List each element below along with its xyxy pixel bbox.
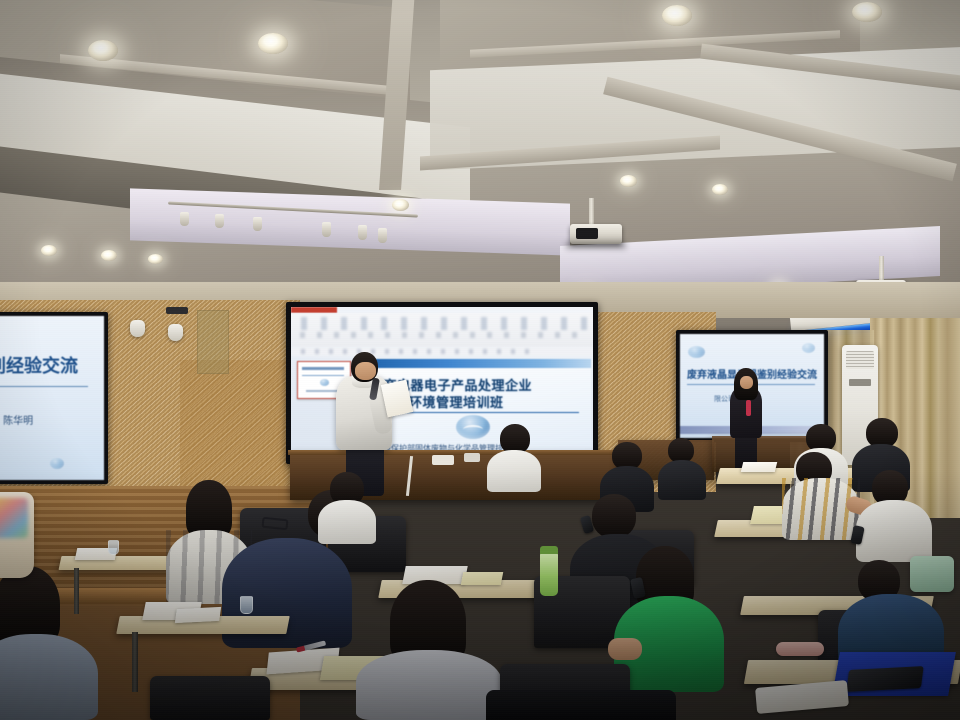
thumbnail-logo-icon	[320, 379, 329, 386]
ppt-toolbar-icons	[297, 349, 537, 354]
audience-head	[592, 494, 636, 538]
slide-emblem-wave	[463, 425, 483, 434]
downlight	[258, 33, 288, 54]
assistant-face	[740, 376, 753, 389]
downlight	[41, 245, 57, 256]
left-projection-screen[interactable]: 鉴别经验交流 限公司 陈华明 年5月	[0, 316, 104, 480]
downlight	[148, 254, 163, 264]
presenter-face	[355, 362, 376, 380]
downlight	[101, 250, 117, 261]
audience-torso	[658, 460, 706, 500]
podium-device	[432, 455, 454, 465]
main-slide-title-line2: 环境管理培训班	[409, 392, 504, 411]
pencil-case	[776, 642, 824, 656]
audience-torso	[0, 634, 98, 720]
podium-device-secondary	[464, 453, 480, 462]
ppt-ribbon-label-row	[295, 332, 589, 338]
slide-header-band	[353, 359, 591, 368]
left-screen-title: 鉴别经验交流	[0, 352, 78, 378]
audience-arm	[608, 638, 642, 660]
thumbnail-sub-line	[306, 390, 340, 392]
track-spotlight	[253, 217, 262, 231]
water-glass	[108, 540, 119, 555]
track-spotlight	[322, 222, 331, 237]
paper	[175, 607, 221, 623]
desk-leg	[132, 632, 138, 692]
rolled-paper	[755, 680, 849, 714]
left-screen-rule	[0, 386, 88, 387]
track-spotlight	[378, 228, 387, 243]
wall-speaker	[168, 324, 183, 341]
ac-vent-grille	[846, 351, 874, 369]
left-screen-logo-icon	[50, 458, 64, 469]
downlight	[620, 175, 637, 187]
wall-speaker	[130, 320, 145, 337]
chair-back-foreground[interactable]	[486, 690, 676, 720]
assistant-microphone	[746, 400, 751, 416]
track-spotlight	[358, 225, 367, 240]
audience-torso	[318, 500, 376, 544]
security-camera	[166, 307, 188, 314]
podium-top-edge	[288, 450, 622, 455]
handbag	[910, 556, 954, 592]
ceiling-projector-left	[570, 224, 622, 244]
audience-torso	[487, 450, 541, 492]
thumbnail-rule	[302, 375, 344, 376]
track-spotlight	[215, 214, 224, 228]
water-bottle	[540, 552, 558, 596]
projector-mount-pole-left	[589, 198, 594, 226]
track-spotlight	[180, 212, 189, 226]
audience-torso	[356, 650, 502, 720]
projector-left-shadow	[566, 242, 626, 249]
projector-lens	[576, 228, 598, 239]
ppt-ribbon-icon-row	[295, 317, 589, 330]
downlight	[88, 40, 118, 61]
notepad	[461, 572, 504, 585]
downlight	[852, 2, 882, 22]
decorative-bag-pattern	[0, 498, 28, 538]
water-glass	[240, 596, 253, 614]
paper	[741, 462, 777, 472]
wall-access-panel	[197, 310, 229, 374]
desk-leg	[74, 568, 79, 614]
projector-mount-pole-right	[879, 256, 884, 282]
downlight	[712, 184, 728, 195]
audience-torso	[856, 500, 932, 562]
smartphone[interactable]	[846, 666, 923, 692]
ac-display-panel	[849, 379, 871, 386]
bottle-cap	[540, 546, 558, 554]
thumbnail-title-line	[302, 367, 344, 370]
chair[interactable]	[150, 676, 270, 720]
right-screen-logo-secondary-icon	[802, 343, 815, 353]
left-screen-subtitle: 限公司 陈华明	[0, 412, 33, 427]
downlight	[392, 199, 409, 211]
right-screen-logo-icon	[688, 346, 705, 358]
downlight	[662, 5, 692, 26]
classroom-photo: 鉴别经验交流 限公司 陈华明 年5月 废弃电器电子产品处理企业 环境管理培训班	[0, 0, 960, 720]
